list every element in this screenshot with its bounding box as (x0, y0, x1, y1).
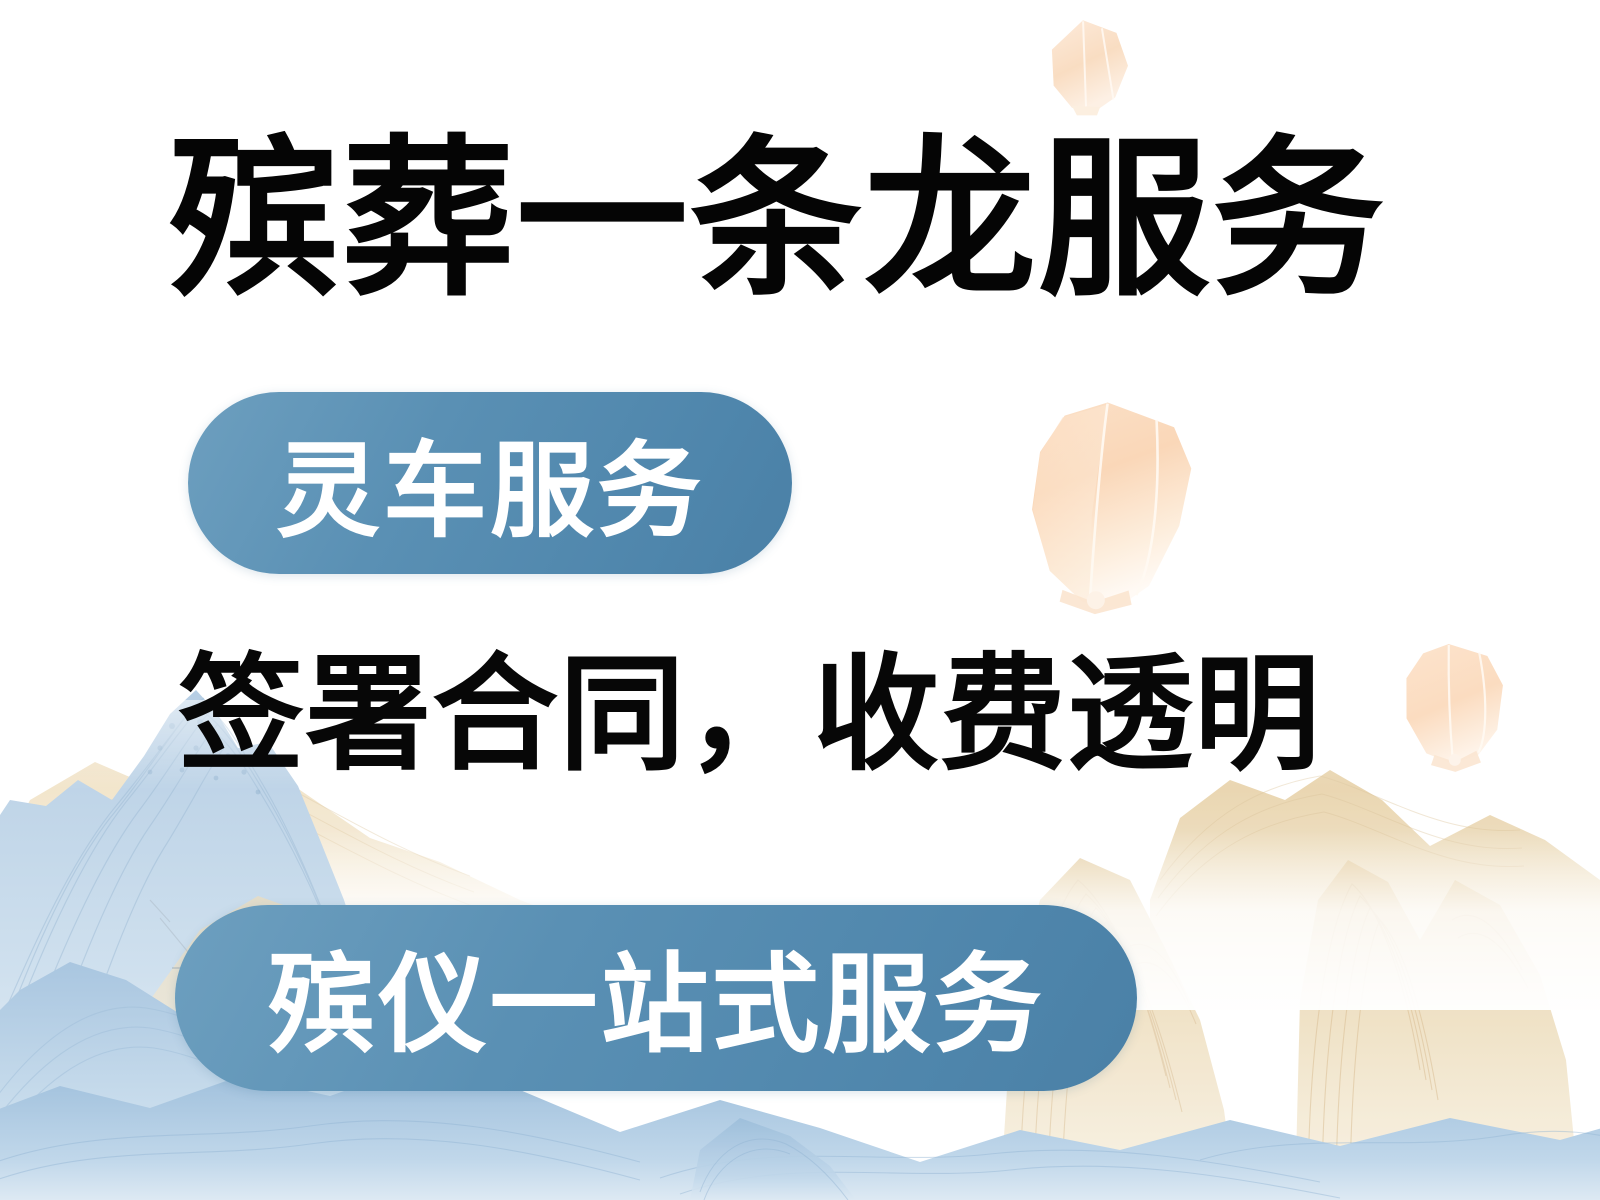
badge-one-stop-funeral-service-label: 殡仪一站式服务 (267, 918, 1044, 1074)
badge-hearse-service[interactable]: 灵车服务 (188, 392, 792, 574)
badge-one-stop-funeral-service[interactable]: 殡仪一站式服务 (175, 905, 1137, 1091)
sky-lantern-top-icon (1027, 8, 1150, 127)
subtitle-contract-transparency: 签署合同，收费透明 (178, 648, 1438, 787)
page-title: 殡葬一条龙服务 (168, 132, 1448, 313)
poster-canvas: 殡葬一条龙服务 灵车服务 签署合同，收费透明 殡仪一站式服务 (0, 0, 1600, 1200)
badge-hearse-service-label: 灵车服务 (276, 406, 704, 557)
sky-lantern-large-icon (984, 389, 1208, 635)
